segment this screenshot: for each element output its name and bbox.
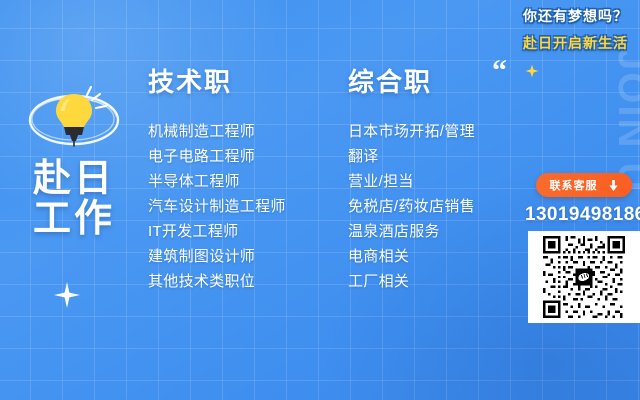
column-heading-general: 综合职: [348, 62, 538, 99]
brand-title-line-1: 赴日: [14, 160, 134, 200]
headline-question: 你还有梦想吗？: [523, 6, 628, 26]
poster-canvas: JOIN U 你还有梦想吗？ 赴日开启新生活 “: [0, 0, 640, 400]
list-item: 汽车设计制造工程师: [148, 194, 338, 219]
arrow-down-icon: [608, 179, 619, 192]
phone-number: 13019498186: [525, 204, 637, 226]
list-item: 工厂相关: [348, 269, 538, 294]
sparkle-icon: [54, 282, 80, 308]
headline-slogan: 赴日开启新生活: [523, 33, 628, 53]
lightbulb-icon: [18, 80, 130, 152]
brand-title-line-2: 工作: [14, 200, 134, 240]
headline-block: 你还有梦想吗？ 赴日开启新生活: [523, 6, 628, 53]
job-column-technical: 技术职 机械制造工程师 电子电路工程师 半导体工程师 汽车设计制造工程师 IT开…: [148, 62, 338, 294]
list-item: 日本市场开拓/管理: [348, 119, 538, 144]
qr-code[interactable]: [528, 231, 640, 323]
list-item: 翻译: [348, 144, 538, 169]
list-item: IT开发工程师: [148, 219, 338, 244]
list-item: 机械制造工程师: [148, 119, 338, 144]
job-list-general: 日本市场开拓/管理 翻译 营业/担当 免税店/药妆店销售 温泉酒店服务 电商相关…: [348, 119, 538, 294]
join-us-watermark: JOIN U: [609, 48, 640, 193]
job-list-technical: 机械制造工程师 电子电路工程师 半导体工程师 汽车设计制造工程师 IT开发工程师…: [148, 119, 338, 294]
list-item: 其他技术类职位: [148, 269, 338, 294]
list-item: 电商相关: [348, 244, 538, 269]
list-item: 半导体工程师: [148, 169, 338, 194]
list-item: 免税店/药妆店销售: [348, 194, 538, 219]
list-item: 温泉酒店服务: [348, 219, 538, 244]
list-item: 建筑制图设计师: [148, 244, 338, 269]
list-item: 营业/担当: [348, 169, 538, 194]
column-heading-technical: 技术职: [148, 62, 338, 99]
contact-service-label: 联系客服: [550, 177, 598, 193]
contact-service-button[interactable]: 联系客服: [536, 173, 632, 197]
list-item: 电子电路工程师: [148, 144, 338, 169]
job-column-general: 综合职 日本市场开拓/管理 翻译 营业/担当 免税店/药妆店销售 温泉酒店服务 …: [348, 62, 538, 294]
brand-block: 赴日 工作: [14, 80, 134, 239]
